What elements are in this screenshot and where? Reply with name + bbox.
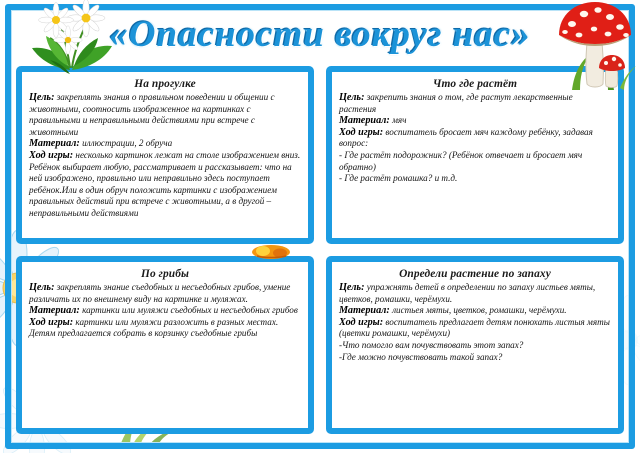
paragraph-label: Цель:	[339, 92, 364, 103]
paragraph-label: Материал:	[29, 305, 80, 316]
paragraph-text: упражнять детей в определении по запаху …	[339, 282, 595, 304]
paragraph-text: закреплять знание съедобных и несъедобны…	[29, 282, 290, 304]
card-opredeli-rastenie-po-zapahu[interactable]: Определи растение по запаху Цель: упражн…	[326, 256, 624, 434]
card-paragraph: Ход игры: воспитатель предлагает детям п…	[339, 317, 611, 340]
paragraph-text: картинки или муляжи съедобных и несъедоб…	[80, 305, 298, 315]
card-na-progulke[interactable]: На прогулке Цель: закреплять знания о пр…	[16, 66, 314, 244]
paragraph-label: Цель:	[29, 92, 54, 103]
card-paragraph: - Где растёт подорожник? (Ребёнок отвеча…	[339, 150, 611, 173]
card-paragraph: Материал: картинки или муляжи съедобных …	[29, 305, 301, 317]
paragraph-text: - Где растёт ромашка? и т.д.	[339, 173, 457, 183]
paragraph-text: иллюстрации, 2 обруча	[80, 138, 172, 148]
paragraph-label: Материал:	[339, 305, 390, 316]
paragraph-label: Ход игры:	[339, 317, 383, 328]
paragraph-label: Ход игры:	[29, 150, 73, 161]
card-paragraph: - Где растёт ромашка? и т.д.	[339, 173, 611, 185]
paragraph-label: Материал:	[29, 138, 80, 149]
card-paragraph: Материал: иллюстрации, 2 обруча	[29, 138, 301, 150]
card-paragraph: Цель: упражнять детей в определении по з…	[339, 282, 611, 305]
card-body: Цель: закреплять знания о правильном пов…	[29, 92, 301, 220]
card-title: На прогулке	[29, 78, 301, 90]
card-paragraph: -Где можно почувствовать такой запах?	[339, 352, 611, 364]
card-chto-gde-rastet[interactable]: Что где растёт Цель: закрепить знания о …	[326, 66, 624, 244]
card-paragraph: Материал: мяч	[339, 115, 611, 127]
card-title: Что где растёт	[339, 78, 611, 90]
paragraph-text: мяч	[390, 115, 407, 125]
paragraph-label: Цель:	[29, 282, 54, 293]
poster-root: «Опасности вокруг нас»	[0, 0, 640, 453]
card-paragraph: Ход игры: картинки или муляжи разложить …	[29, 317, 301, 340]
paragraph-label: Материал:	[339, 115, 390, 126]
card-paragraph: Цель: закрепить знания о том, где растут…	[339, 92, 611, 115]
card-paragraph: -Что помогло вам почувствовать этот запа…	[339, 340, 611, 352]
page-title: «Опасности вокруг нас»	[12, 13, 628, 56]
card-paragraph: Цель: закреплять знание съедобных и несъ…	[29, 282, 301, 305]
paragraph-text: закреплять знания о правильном поведении…	[29, 92, 275, 137]
card-paragraph: Материал: листьея мяты, цветков, ромашки…	[339, 305, 611, 317]
poster-header: «Опасности вокруг нас»	[12, 11, 628, 61]
paragraph-text: -Что помогло вам почувствовать этот запа…	[339, 340, 523, 350]
card-paragraph: Ход игры: несколько картинок лежат на ст…	[29, 150, 301, 220]
card-body: Цель: закреплять знание съедобных и несъ…	[29, 282, 301, 340]
paragraph-text: закрепить знания о том, где растут лекар…	[339, 92, 573, 114]
card-title: По грибы	[29, 268, 301, 280]
paragraph-label: Цель:	[339, 282, 364, 293]
paragraph-label: Ход игры:	[29, 317, 73, 328]
paragraph-text: листьея мяты, цветков, ромашки, черёмухи…	[390, 305, 567, 315]
card-paragraph: Цель: закреплять знания о правильном пов…	[29, 92, 301, 138]
card-po-griby[interactable]: По грибы Цель: закреплять знание съедобн…	[16, 256, 314, 434]
paragraph-text: -Где можно почувствовать такой запах?	[339, 352, 502, 362]
card-paragraph: Ход игры: воспитатель бросает мяч каждом…	[339, 127, 611, 150]
card-title: Определи растение по запаху	[339, 268, 611, 280]
paragraph-label: Ход игры:	[339, 127, 383, 138]
paragraph-text: - Где растёт подорожник? (Ребёнок отвеча…	[339, 150, 582, 172]
card-body: Цель: закрепить знания о том, где растут…	[339, 92, 611, 185]
cards-grid: На прогулке Цель: закреплять знания о пр…	[16, 66, 624, 441]
card-body: Цель: упражнять детей в определении по з…	[339, 282, 611, 363]
